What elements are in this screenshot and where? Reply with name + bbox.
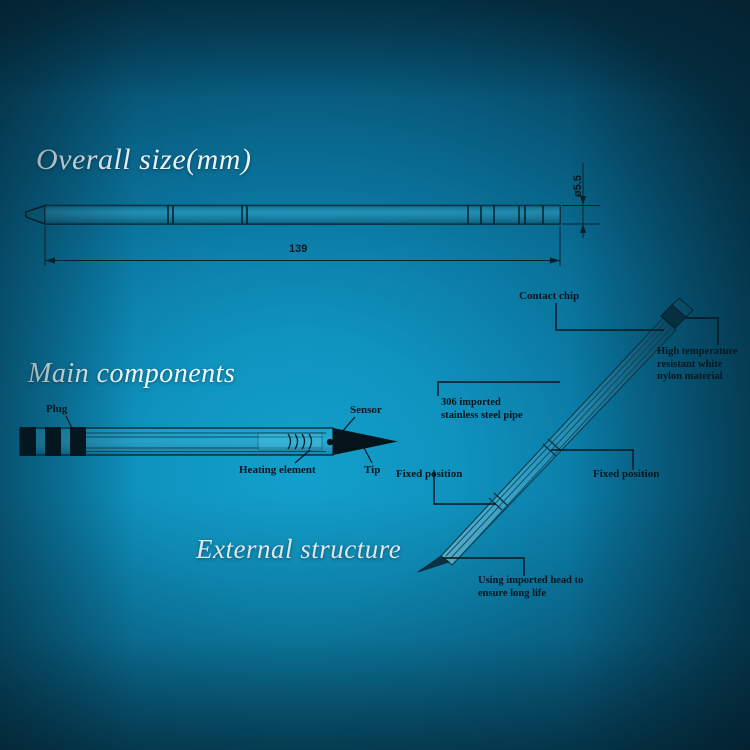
overall-size-title: Overall size(mm) (36, 143, 251, 177)
callout-steel-line2: stainless steel pipe (441, 410, 523, 423)
callout-nylon-material: High temperature resistant white nylon m… (657, 346, 738, 384)
label-heating-element: Heating element (239, 464, 316, 477)
callout-steel-line1: 306 imported (441, 397, 523, 410)
overall-size-outline (26, 206, 560, 225)
diameter-dimension-label: ø5.5 (572, 175, 584, 197)
callout-nylon-line1: High temperature (657, 346, 738, 359)
external-structure-title: External structure (196, 534, 401, 565)
external-structure-shaft (418, 298, 693, 572)
callout-head-line2: ensure long life (478, 588, 583, 601)
label-sensor: Sensor (350, 404, 382, 417)
callout-stainless-steel-pipe: 306 imported stainless steel pipe (441, 397, 523, 422)
callout-fixed-position-right: Fixed position (593, 468, 659, 481)
main-components-cutaway (20, 427, 398, 456)
callout-nylon-line2: resistant white (657, 359, 738, 372)
sensor-dot (327, 439, 333, 445)
plug-bands (20, 427, 86, 456)
callout-imported-head: Using imported head to ensure long life (478, 575, 583, 600)
label-tip: Tip (364, 464, 380, 477)
length-dimension-label: 139 (289, 243, 307, 255)
product-spec-illustration: Overall size(mm) Main components Externa… (0, 0, 750, 750)
label-plug: Plug (46, 403, 67, 416)
callout-fixed-position-left: Fixed position (396, 468, 462, 481)
callout-nylon-line3: nylon material (657, 371, 738, 384)
callout-contact-chip: Contact chip (519, 290, 579, 303)
callout-head-line1: Using imported head to (478, 575, 583, 588)
main-components-title: Main components (28, 358, 235, 390)
